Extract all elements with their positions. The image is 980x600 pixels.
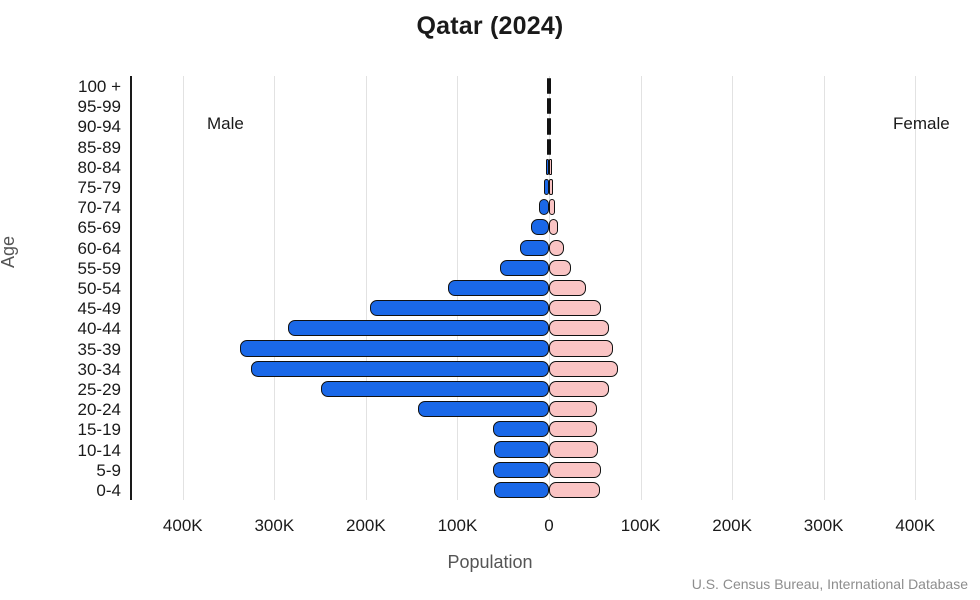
pyramid-row	[137, 419, 961, 439]
series-label-male: Male	[207, 114, 244, 134]
x-axis-tick-label: 400K	[138, 516, 228, 536]
population-pyramid-chart: Qatar (2024) Age Population Male Female …	[0, 0, 980, 600]
pyramid-row	[137, 298, 961, 318]
x-axis-tick-label: 300K	[229, 516, 319, 536]
x-axis-tick-label: 200K	[321, 516, 411, 536]
y-axis-tick-label: 95-99	[9, 98, 121, 115]
y-axis-tick-label: 50-54	[9, 280, 121, 297]
y-axis-tick-label: 85-89	[9, 139, 121, 156]
bar-female-95_99[interactable]	[549, 98, 551, 114]
bar-female-55_59[interactable]	[549, 260, 571, 276]
pyramid-row	[137, 116, 961, 136]
bar-female-25_29[interactable]	[549, 381, 609, 397]
y-axis-tick-label: 80-84	[9, 159, 121, 176]
y-axis-tick-label: 90-94	[9, 118, 121, 135]
y-axis-tick-label: 30-34	[9, 361, 121, 378]
y-axis-tick-label: 75-79	[9, 179, 121, 196]
pyramid-row	[137, 278, 961, 298]
y-axis-tick-label: 45-49	[9, 300, 121, 317]
bar-male-25_29[interactable]	[321, 381, 549, 397]
x-axis-title: Population	[0, 552, 980, 573]
x-axis-tick-label: 100K	[412, 516, 502, 536]
pyramid-row	[137, 460, 961, 480]
pyramid-row	[137, 480, 961, 500]
bar-female-0_4[interactable]	[549, 482, 600, 498]
pyramid-row	[137, 197, 961, 217]
pyramid-row	[137, 137, 961, 157]
pyramid-row	[137, 439, 961, 459]
pyramid-row	[137, 217, 961, 237]
x-axis-tick-label: 200K	[687, 516, 777, 536]
x-axis-tick-label: 100K	[596, 516, 686, 536]
source-caption: U.S. Census Bureau, International Databa…	[692, 576, 968, 592]
y-axis-line	[130, 76, 132, 500]
x-axis-tick-label: 400K	[870, 516, 960, 536]
y-axis-tick-label: 70-74	[9, 199, 121, 216]
bar-female-45_49[interactable]	[549, 300, 601, 316]
bar-male-0_4[interactable]	[494, 482, 549, 498]
y-axis-tick-label: 25-29	[9, 381, 121, 398]
bar-female-65_69[interactable]	[549, 219, 558, 235]
pyramid-row	[137, 318, 961, 338]
page-title: Qatar (2024)	[0, 12, 980, 41]
bar-female-10_14[interactable]	[549, 441, 598, 457]
bar-male-65_69[interactable]	[531, 219, 549, 235]
bar-male-60_64[interactable]	[520, 240, 549, 256]
bar-female-75_79[interactable]	[549, 179, 553, 195]
bar-female-35_39[interactable]	[549, 340, 613, 356]
pyramid-row	[137, 177, 961, 197]
bar-male-10_14[interactable]	[494, 441, 549, 457]
y-axis-tick-label: 0-4	[9, 482, 121, 499]
pyramid-row	[137, 399, 961, 419]
bar-female-80_84[interactable]	[549, 159, 552, 175]
bar-female-100[interactable]	[549, 78, 551, 94]
series-label-female: Female	[893, 114, 950, 134]
x-axis-tick-label: 300K	[779, 516, 869, 536]
bar-male-15_19[interactable]	[493, 421, 549, 437]
y-axis-tick-label: 10-14	[9, 442, 121, 459]
bar-female-20_24[interactable]	[549, 401, 597, 417]
bar-female-40_44[interactable]	[549, 320, 609, 336]
pyramid-row	[137, 96, 961, 116]
y-axis-tick-label: 100 +	[9, 78, 121, 95]
bar-male-30_34[interactable]	[251, 361, 549, 377]
pyramid-row	[137, 238, 961, 258]
bar-male-50_54[interactable]	[448, 280, 549, 296]
pyramid-row	[137, 258, 961, 278]
bar-female-90_94[interactable]	[549, 118, 551, 134]
x-axis-tick-label: 0	[504, 516, 594, 536]
bar-male-45_49[interactable]	[370, 300, 549, 316]
bar-female-85_89[interactable]	[549, 139, 551, 155]
pyramid-row	[137, 157, 961, 177]
bar-male-35_39[interactable]	[240, 340, 549, 356]
bar-male-40_44[interactable]	[288, 320, 549, 336]
bar-female-50_54[interactable]	[549, 280, 586, 296]
pyramid-row	[137, 379, 961, 399]
bar-female-70_74[interactable]	[549, 199, 555, 215]
y-axis-tick-label: 55-59	[9, 260, 121, 277]
plot-area	[137, 76, 961, 500]
y-axis-tick-label: 20-24	[9, 401, 121, 418]
bar-male-70_74[interactable]	[539, 199, 549, 215]
bar-female-5_9[interactable]	[549, 462, 601, 478]
y-axis-tick-label: 35-39	[9, 341, 121, 358]
bar-female-15_19[interactable]	[549, 421, 597, 437]
y-axis-tick-label: 60-64	[9, 240, 121, 257]
pyramid-row	[137, 338, 961, 358]
bar-male-20_24[interactable]	[418, 401, 549, 417]
y-axis-tick-label: 65-69	[9, 219, 121, 236]
bar-male-55_59[interactable]	[500, 260, 549, 276]
bar-male-5_9[interactable]	[493, 462, 549, 478]
pyramid-row	[137, 76, 961, 96]
bar-female-60_64[interactable]	[549, 240, 564, 256]
y-axis-tick-label: 40-44	[9, 320, 121, 337]
bar-female-30_34[interactable]	[549, 361, 618, 377]
pyramid-row	[137, 359, 961, 379]
y-axis-tick-label: 15-19	[9, 421, 121, 438]
y-axis-tick-label: 5-9	[9, 462, 121, 479]
